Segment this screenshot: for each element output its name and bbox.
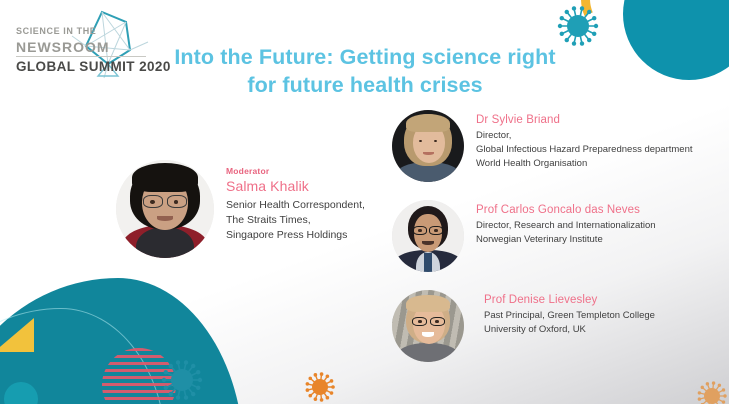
page-title: Into the Future: Getting science right f… [150,44,580,99]
panelist-item: Prof Carlos Goncalo das Neves Director, … [392,198,729,288]
panelist-avatar [392,110,464,182]
yellow-wedge-decoration [0,318,34,352]
moderator-role-line-3: Singapore Press Holdings [226,228,414,243]
virus-icon-top-right [556,4,600,48]
panelist-text: Prof Denise Lievesley Past Principal, Gr… [484,294,729,337]
virus-icon-bottom-center [303,370,337,404]
title-line-2: for future health crises [150,72,580,100]
panelist-affiliation: Director, Research and Internationalizat… [476,219,728,247]
teal-circle-decoration [623,0,729,80]
teal-ring-decoration [665,0,729,58]
panelist-affiliation-line-1: Director, Research and Internationalizat… [476,219,728,233]
title-line-1: Into the Future: Getting science right [150,44,580,72]
virus-icon-bottom-right [694,378,729,404]
event-logo: SCIENCE IN THE NEWSROOM GLOBAL SUMMIT 20… [8,4,158,82]
panelist-text: Prof Carlos Goncalo das Neves Director, … [476,204,728,247]
panelist-affiliation: Director, Global Infectious Hazard Prepa… [476,129,728,170]
moderator-avatar [116,160,214,258]
pink-striped-circle-decoration [102,348,176,404]
yellow-arc-decoration [568,0,680,55]
panelist-avatar [392,290,464,362]
panelist-name: Dr Sylvie Briand [476,114,728,126]
moderator-name: Salma Khalik [226,178,414,194]
panelist-affiliation-line-1: Past Principal, Green Templeton College [484,309,729,323]
panelist-name: Prof Denise Lievesley [484,294,729,306]
panelist-item: Dr Sylvie Briand Director, Global Infect… [392,108,729,198]
logo-line-1: SCIENCE IN THE [16,26,96,36]
panelist-affiliation-line-3: World Health Organisation [476,157,728,171]
panelist-text: Dr Sylvie Briand Director, Global Infect… [476,114,728,170]
panelist-affiliation: Past Principal, Green Templeton College … [484,309,729,337]
logo-line-3: GLOBAL SUMMIT 2020 [16,59,171,74]
panelist-list: Dr Sylvie Briand Director, Global Infect… [392,108,729,378]
logo-divider [16,56,146,57]
moderator-block: Moderator Salma Khalik Senior Health Cor… [112,158,412,268]
moderator-role-line-1: Senior Health Correspondent, [226,198,414,213]
teal-blob-decoration [0,278,244,404]
teal-blob-outline-decoration [0,308,166,404]
teal-dot-decoration [4,382,38,404]
panelist-affiliation-line-1: Director, [476,129,728,143]
logo-line-2: NEWSROOM [16,39,110,55]
panelist-affiliation-line-2: Norwegian Veterinary Institute [476,233,728,247]
moderator-role-line-2: The Straits Times, [226,213,414,228]
panelist-avatar [392,200,464,272]
panelist-affiliation-line-2: University of Oxford, UK [484,323,729,337]
moderator-text: Moderator Salma Khalik Senior Health Cor… [218,166,414,243]
moderator-role: Senior Health Correspondent, The Straits… [226,198,414,243]
panelist-name: Prof Carlos Goncalo das Neves [476,204,728,216]
virus-icon-bottom-left [160,358,204,402]
panelist-affiliation-line-2: Global Infectious Hazard Preparedness de… [476,143,728,157]
panelist-item: Prof Denise Lievesley Past Principal, Gr… [392,288,729,378]
presentation-slide: SCIENCE IN THE NEWSROOM GLOBAL SUMMIT 20… [0,0,729,404]
moderator-label: Moderator [226,166,414,176]
